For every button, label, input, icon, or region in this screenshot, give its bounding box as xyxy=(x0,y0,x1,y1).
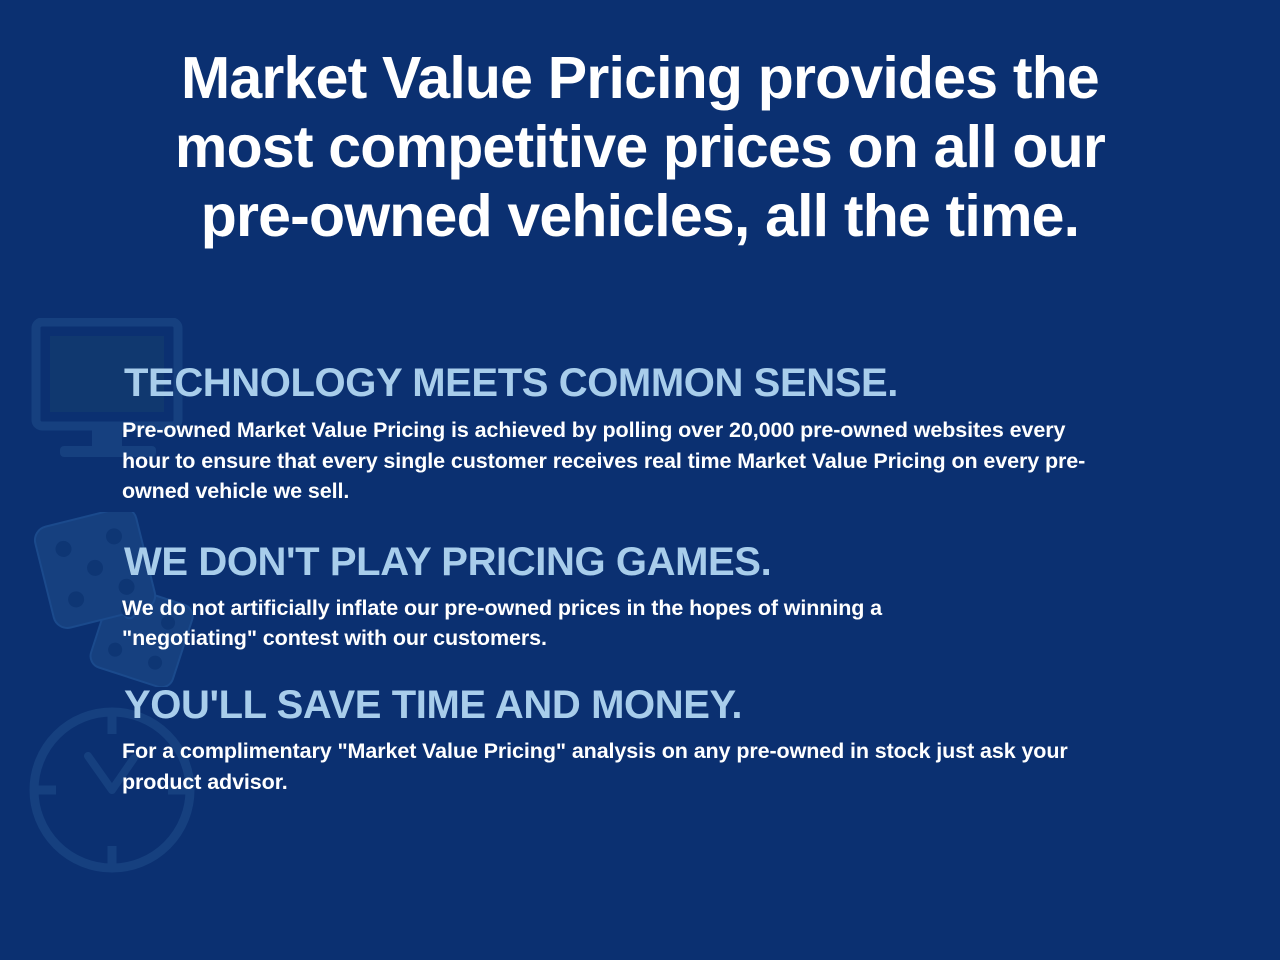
section-body-technology: Pre-owned Market Value Pricing is achiev… xyxy=(122,415,1097,507)
section-heading-technology: TECHNOLOGY MEETS COMMON SENSE. xyxy=(124,362,1152,405)
headline-line-2: most competitive prices on all our xyxy=(60,113,1220,182)
headline-line-1: Market Value Pricing provides the xyxy=(60,44,1220,113)
section-pricing-games: WE DON'T PLAY PRICING GAMES. We do not a… xyxy=(122,541,1152,654)
section-heading-pricing-games: WE DON'T PLAY PRICING GAMES. xyxy=(124,541,1152,584)
benefit-sections: TECHNOLOGY MEETS COMMON SENSE. Pre-owned… xyxy=(122,362,1152,803)
marketing-slide: Market Value Pricing provides the most c… xyxy=(0,0,1280,960)
section-body-time-and-money: For a complimentary "Market Value Pricin… xyxy=(122,736,1082,797)
section-time-and-money: YOU'LL SAVE TIME AND MONEY. For a compli… xyxy=(122,684,1152,797)
section-heading-time-and-money: YOU'LL SAVE TIME AND MONEY. xyxy=(124,684,1152,727)
headline-line-3: pre-owned vehicles, all the time. xyxy=(60,182,1220,251)
page-title: Market Value Pricing provides the most c… xyxy=(60,44,1220,251)
section-technology: TECHNOLOGY MEETS COMMON SENSE. Pre-owned… xyxy=(122,362,1152,507)
section-body-pricing-games: We do not artificially inflate our pre-o… xyxy=(122,593,1002,654)
